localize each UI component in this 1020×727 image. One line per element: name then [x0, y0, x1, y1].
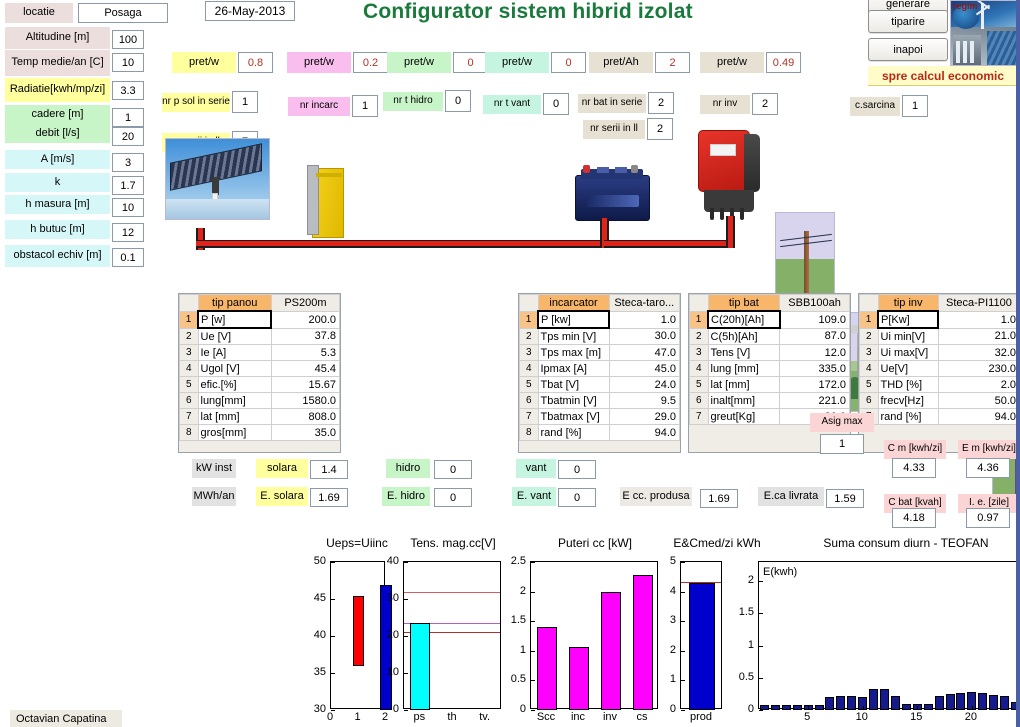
inapoi-button[interactable]: inapoi	[868, 38, 948, 61]
site-param-label-2: Temp medie/an [C]	[5, 50, 110, 76]
table-row: 4Ue[V]230.0	[860, 361, 1020, 377]
coverage-value-2[interactable]: 4.36	[966, 458, 1010, 478]
spre-calcul-economic-button[interactable]: spre calcul economic	[868, 66, 1018, 86]
count-value-4[interactable]: 0	[543, 93, 569, 115]
site-param-label-6: A [m/s]	[5, 150, 110, 169]
table-row: 1C(20h)[Ah]109.0	[690, 311, 850, 328]
source-value-3[interactable]: 0	[434, 488, 472, 507]
param-value-cell[interactable]: 45.4	[271, 361, 339, 377]
table-invertor-header-b: Steca-PI1100	[938, 295, 1019, 312]
site-param-label-5: debit [l/s]	[5, 124, 110, 143]
count-label-2: nr incarc	[288, 97, 350, 116]
row-number: 2	[520, 328, 539, 345]
table-row: 6inalt[mm]221.0	[690, 393, 850, 409]
count-label-8: c.sarcina	[850, 97, 900, 116]
param-name-cell[interactable]: Tbat [V]	[538, 377, 609, 393]
source-label-3: E. hidro	[382, 487, 430, 506]
table-row: 3Tens [V]12.0	[690, 345, 850, 361]
chart-bar	[815, 705, 824, 710]
param-name-cell[interactable]: P [kw]	[538, 311, 609, 328]
param-value-cell[interactable]: 9.5	[609, 393, 679, 409]
coverage-label-2: E m [kwh/zi]	[958, 440, 1020, 459]
site-param-label-9: h butuc [m]	[5, 220, 110, 239]
table-incarcator: incarcatorSteca-taro...1P [kw]1.02Tps mi…	[518, 293, 681, 453]
table-baterie-header-a: tip bat	[708, 295, 780, 312]
source-label-0: solara	[256, 459, 308, 478]
price-value-2[interactable]: 0	[453, 52, 488, 73]
unit-label-0: kW inst	[192, 459, 236, 478]
param-value-cell[interactable]: 5.3	[271, 345, 339, 361]
table-row: 5efic.[%]15.67	[180, 377, 340, 393]
row-number: 5	[180, 377, 199, 393]
row-number: 8	[520, 425, 539, 441]
param-value-cell[interactable]: 21.0	[938, 328, 1019, 345]
chart-bar	[689, 583, 715, 710]
param-name-cell[interactable]: Ue[V]	[878, 361, 938, 377]
row-number: 1	[860, 311, 879, 328]
param-name-cell[interactable]: Ipmax [A]	[538, 361, 609, 377]
chart-ytick: 50	[286, 555, 326, 567]
site-param-value-10[interactable]: 0.1	[112, 248, 144, 267]
site-param-label-4: cadere [m]	[5, 105, 110, 124]
price-label-1: pret/w	[287, 52, 351, 73]
chart-ytick-mark	[759, 581, 763, 582]
table-row: 7lat [mm]808.0	[180, 409, 340, 425]
chart-bar	[793, 705, 802, 710]
chart-ytick-mark	[759, 678, 763, 679]
param-value-cell[interactable]: 1580.0	[271, 393, 339, 409]
table-row: 7Tbatmax [V]29.0	[520, 409, 680, 425]
chart-ytick: 1	[486, 644, 526, 656]
row-number: 5	[860, 377, 879, 393]
site-param-value-5[interactable]: 20	[112, 127, 144, 146]
param-name-cell[interactable]: lung [mm]	[708, 361, 780, 377]
param-value-cell[interactable]: 30.0	[609, 328, 679, 345]
row-number: 3	[180, 345, 199, 361]
chart-ytick: 2	[714, 574, 754, 586]
param-value-cell[interactable]: 87.0	[780, 328, 850, 345]
source-label-5: E. vant	[512, 487, 556, 506]
chart-ytick-mark	[759, 646, 763, 647]
site-param-value-7[interactable]: 1.7	[112, 176, 144, 195]
chart-ytick: 30	[359, 592, 399, 604]
param-name-cell[interactable]: C(5h)[Ah]	[708, 328, 780, 345]
chart-bar	[537, 627, 557, 710]
chart-ytick: 2.5	[486, 555, 526, 567]
chart-xtick-mark	[917, 706, 918, 710]
row-number: 6	[180, 393, 199, 409]
chart-bar	[978, 693, 987, 710]
chart-title-puteri-cc: Puteri cc [kW]	[540, 536, 650, 550]
param-value-cell[interactable]: 24.0	[609, 377, 679, 393]
param-value-cell[interactable]: 109.0	[780, 311, 850, 328]
chart-bar	[869, 689, 878, 710]
chart-xtick-mark	[808, 706, 809, 710]
table-incarcator-header-b: Steca-taro...	[609, 295, 679, 312]
solar-panel-image	[165, 138, 270, 220]
count-value-5[interactable]: 2	[648, 92, 674, 114]
chart-ytick: 2	[486, 585, 526, 597]
table-row: 6Tbatmin [V]9.5	[520, 393, 680, 409]
row-number: 4	[520, 361, 539, 377]
chart-bar	[836, 696, 845, 710]
chart-xtick: 5	[795, 711, 819, 723]
row-number: 3	[690, 345, 709, 361]
chart-ytick-mark	[404, 673, 408, 674]
site-param-label-0: locatie	[5, 3, 73, 23]
chart-ytick: 0	[486, 703, 526, 715]
coverage-label-1: C m [kwh/zi]	[884, 440, 946, 459]
chart-ytick-mark	[531, 592, 535, 593]
param-name-cell[interactable]: rand [%]	[878, 409, 938, 425]
chart-bar	[989, 695, 998, 710]
param-name-cell[interactable]: rand [%]	[538, 425, 609, 441]
param-name-cell[interactable]: Ui max[V]	[878, 345, 938, 361]
param-value-cell[interactable]: 808.0	[271, 409, 339, 425]
table-row: 6frecv[Hz]50.0	[860, 393, 1020, 409]
table-row: 6lung[mm]1580.0	[180, 393, 340, 409]
row-number: 4	[860, 361, 879, 377]
chart-ytick: 0.5	[486, 673, 526, 685]
chart-bar	[891, 696, 900, 710]
chart-bar	[935, 696, 944, 710]
table-row: 4Ugol [V]45.4	[180, 361, 340, 377]
param-name-cell[interactable]: THD [%]	[878, 377, 938, 393]
chart-xtick-mark	[863, 706, 864, 710]
count-value-2[interactable]: 1	[352, 95, 378, 117]
table-row: 1P [kw]1.0	[520, 311, 680, 328]
chart-ytick-mark	[331, 636, 335, 637]
chart-ytick: 0	[359, 703, 399, 715]
chart-ytick-mark	[331, 673, 335, 674]
row-number: 6	[690, 393, 709, 409]
count-label-0: nr p sol in serie	[162, 93, 230, 112]
param-value-cell[interactable]: 1.0	[609, 311, 679, 328]
param-name-cell[interactable]: Ie [A]	[198, 345, 271, 361]
energy-value-1[interactable]: 1.59	[826, 489, 864, 508]
chart-ytick-mark	[681, 651, 685, 652]
chart-ytick: 35	[286, 666, 326, 678]
chart-xtick: 20	[959, 711, 983, 723]
chart-ytick: 1.5	[714, 606, 754, 618]
chart-ytick-mark	[681, 562, 685, 563]
count-label-5: nr bat in serie	[578, 94, 646, 113]
coverage-label-0: Asig max	[810, 413, 874, 432]
chart-ytick-mark	[531, 680, 535, 681]
row-number: 2	[860, 328, 879, 345]
row-number: 7	[180, 409, 199, 425]
chart-ytick-mark	[681, 621, 685, 622]
param-value-cell[interactable]: 221.0	[780, 393, 850, 409]
table-incarcator-header-a: incarcator	[538, 295, 609, 312]
row-number: 1	[520, 311, 539, 328]
row-number: 7	[520, 409, 539, 425]
count-value-7[interactable]: 2	[752, 93, 778, 115]
count-label-7: nr inv	[700, 95, 750, 114]
site-param-label-3: Radiatie[kwh/mp/zi]	[5, 78, 110, 102]
price-label-4: pret/Ah	[589, 52, 653, 73]
param-value-cell[interactable]: 47.0	[609, 345, 679, 361]
chart-ytick: 3	[636, 614, 676, 626]
chart-xtick: 15	[904, 711, 928, 723]
table-row: 5THD [%]2.0	[860, 377, 1020, 393]
param-value-cell[interactable]: 1.0	[938, 311, 1019, 328]
param-name-cell[interactable]: Tps max [m]	[538, 345, 609, 361]
row-number: 6	[860, 393, 879, 409]
param-value-cell[interactable]: 172.0	[780, 377, 850, 393]
count-value-0[interactable]: 1	[232, 91, 258, 113]
table-row: 3Ui max[V]32.0	[860, 345, 1020, 361]
chart-bar	[601, 592, 621, 710]
table-panou: tip panouPS200m1P [w]200.02Ue [V]37.83Ie…	[178, 293, 341, 453]
param-value-cell[interactable]: 94.0	[609, 425, 679, 441]
row-number: 7	[690, 409, 709, 425]
site-param-label-8: h masura [m]	[5, 195, 110, 214]
table-panou-header-a: tip panou	[198, 295, 271, 312]
param-value-cell[interactable]: 35.0	[271, 425, 339, 441]
site-param-value-8[interactable]: 10	[112, 198, 144, 217]
param-name-cell[interactable]: Tbatmin [V]	[538, 393, 609, 409]
header-collage-image: regim	[950, 0, 1020, 66]
table-row: 2C(5h)[Ah]87.0	[690, 328, 850, 345]
chart-ytick-mark	[759, 710, 763, 711]
chart-ytick: 1.5	[486, 614, 526, 626]
date-field[interactable]: 26-May-2013	[205, 1, 295, 21]
table-row: 1P[Kw]1.0	[860, 311, 1020, 328]
row-number: 4	[180, 361, 199, 377]
chart-bar	[410, 623, 430, 710]
chart-bar	[782, 705, 791, 710]
source-label-1: E. solara	[256, 487, 308, 506]
chart-bar	[924, 704, 933, 710]
param-value-cell[interactable]: 37.8	[271, 328, 339, 345]
param-name-cell[interactable]: P[Kw]	[878, 311, 938, 328]
source-value-0[interactable]: 1.4	[310, 460, 348, 479]
chart-title-e-cmed-zi: E&Cmed/zi kWh	[662, 536, 772, 550]
chart-axes-tens-mag-cc	[403, 561, 501, 709]
chart-title-ueps-uiinc: Ueps=Uiinc	[312, 536, 402, 550]
site-param-value-9[interactable]: 12	[112, 223, 144, 242]
energy-label-1: E.ca livrata	[758, 487, 824, 506]
price-value-0[interactable]: 0.8	[238, 52, 273, 73]
chart-ytick-mark	[404, 636, 408, 637]
chart-ytick: 0	[714, 703, 754, 715]
price-value-1[interactable]: 0.2	[353, 52, 388, 73]
param-value-cell[interactable]: 15.67	[271, 377, 339, 393]
table-row: 8rand [%]94.0	[520, 425, 680, 441]
chart-bar	[946, 694, 955, 710]
chart-title-suma-consum-diurn: Suma consum diurn - TEOFAN	[806, 536, 1006, 550]
page-title: Configurator sistem hibrid izolat	[363, 0, 693, 24]
param-name-cell[interactable]: Tens [V]	[708, 345, 780, 361]
param-name-cell[interactable]: Tbatmax [V]	[538, 409, 609, 425]
chart-ytick-mark	[331, 599, 335, 600]
row-number: 5	[520, 377, 539, 393]
source-label-4: vant	[516, 459, 556, 478]
param-name-cell[interactable]: P [w]	[198, 311, 271, 328]
source-value-5[interactable]: 0	[558, 488, 596, 507]
param-value-cell[interactable]: 94.0	[938, 409, 1019, 425]
table-row: 8gros[mm]35.0	[180, 425, 340, 441]
row-number: 5	[690, 377, 709, 393]
param-value-cell[interactable]: 45.0	[609, 361, 679, 377]
param-value-cell[interactable]: 200.0	[271, 311, 339, 328]
site-param-value-1[interactable]: 100	[112, 30, 144, 49]
chart-ytick: 0.5	[714, 671, 754, 683]
price-label-0: pret/w	[172, 52, 236, 73]
chart-ytick: 4	[636, 585, 676, 597]
battery-image	[575, 165, 650, 223]
table-invertor: tip invSteca-PI11001P[Kw]1.02Ui min[V]21…	[858, 293, 1020, 453]
chart-ytick-mark	[331, 562, 335, 563]
chart-ytick: 20	[359, 629, 399, 641]
row-number: 2	[690, 328, 709, 345]
param-value-cell[interactable]: 32.0	[938, 345, 1019, 361]
chart-xtick: 10	[850, 711, 874, 723]
chart-annotation: E(kwh)	[763, 566, 797, 578]
count-label-4: nr t vant	[483, 95, 541, 114]
source-value-1[interactable]: 1.69	[310, 488, 348, 507]
param-value-cell[interactable]: 335.0	[780, 361, 850, 377]
row-number: 2	[180, 328, 199, 345]
table-panou-header-b: PS200m	[271, 295, 339, 312]
param-name-cell[interactable]: Ui min[V]	[878, 328, 938, 345]
system-schematic	[160, 130, 1020, 250]
chart-ytick-mark	[404, 562, 408, 563]
chart-ytick-mark	[404, 599, 408, 600]
energy-value-0[interactable]: 1.69	[700, 489, 738, 508]
param-name-cell[interactable]: lat [mm]	[198, 409, 271, 425]
chart-ytick: 5	[636, 555, 676, 567]
count-value-8[interactable]: 1	[902, 95, 928, 117]
table-row: 3Tps max [m]47.0	[520, 345, 680, 361]
param-name-cell[interactable]: Ugol [V]	[198, 361, 271, 377]
param-value-cell[interactable]: 2.0	[938, 377, 1019, 393]
site-param-value-2[interactable]: 10	[112, 53, 144, 72]
table-row: 1P [w]200.0	[180, 311, 340, 328]
site-param-value-4[interactable]: 1	[112, 108, 144, 127]
chart-bar	[880, 689, 889, 710]
coverage-value-4[interactable]: 0.97	[966, 508, 1010, 528]
chart-bar	[902, 704, 911, 710]
vertical-scrollbar[interactable]	[1016, 0, 1020, 727]
chart-bar	[956, 693, 965, 710]
chart-ytick: 1	[714, 639, 754, 651]
tiparire-button[interactable]: tiparire	[868, 10, 948, 33]
chart-ytick: 40	[359, 555, 399, 567]
energy-label-0: E cc. produsa	[620, 487, 692, 506]
site-param-label-1: Altitudine [m]	[5, 27, 110, 49]
charge-controller-image	[312, 168, 344, 238]
table-row: 3Ie [A]5.3	[180, 345, 340, 361]
chart-ytick: 10	[359, 666, 399, 678]
param-name-cell[interactable]: greut[Kg]	[708, 409, 780, 425]
param-value-cell[interactable]: 50.0	[938, 393, 1019, 409]
site-param-label-7: k	[5, 173, 110, 192]
site-param-value-3[interactable]: 3.3	[112, 81, 144, 100]
price-label-2: pret/w	[387, 52, 451, 73]
row-number: 6	[520, 393, 539, 409]
price-value-5[interactable]: 0.49	[766, 52, 801, 73]
price-value-4[interactable]: 2	[655, 52, 690, 73]
chart-bar	[771, 705, 780, 710]
unit-label-1: MWh/an	[192, 487, 236, 506]
table-row: 2Tps min [V]30.0	[520, 328, 680, 345]
source-value-2[interactable]: 0	[434, 460, 472, 479]
table-row: 4lung [mm]335.0	[690, 361, 850, 377]
param-value-cell[interactable]: 29.0	[609, 409, 679, 425]
coverage-value-0[interactable]: 1	[820, 434, 864, 454]
chart-bar	[1000, 696, 1009, 710]
price-label-3: pret/w	[485, 52, 549, 73]
param-name-cell[interactable]: C(20h)[Ah]	[708, 311, 780, 328]
chart-ytick: 0	[636, 703, 676, 715]
param-value-cell[interactable]: 230.0	[938, 361, 1019, 377]
row-number: 8	[180, 425, 199, 441]
param-name-cell[interactable]: inalt[mm]	[708, 393, 780, 409]
coverage-value-1[interactable]: 4.33	[892, 458, 936, 478]
table-row: 7rand [%]94.0	[860, 409, 1020, 425]
param-value-cell[interactable]: 12.0	[780, 345, 850, 361]
table-row: 4Ipmax [A]45.0	[520, 361, 680, 377]
param-name-cell[interactable]: Tps min [V]	[538, 328, 609, 345]
chart-axes-suma-consum-diurn: E(kwh)	[758, 561, 1020, 709]
chart-bar	[847, 696, 856, 710]
param-name-cell[interactable]: efic.[%]	[198, 377, 271, 393]
chart-ytick-mark	[531, 651, 535, 652]
author-footer: Octavian Capatina	[10, 710, 122, 727]
count-label-3: nr t hidro	[383, 92, 443, 111]
row-number: 3	[860, 345, 879, 361]
chart-ytick-mark	[531, 562, 535, 563]
row-number: 4	[690, 361, 709, 377]
table-row: 2Ue [V]37.8	[180, 328, 340, 345]
chart-title-tens-mag-cc: Tens. mag.cc[V]	[398, 536, 508, 550]
price-label-5: pret/w	[700, 52, 764, 73]
table-baterie-header-b: SBB100ah	[780, 295, 850, 312]
chart-bar	[825, 697, 834, 710]
chart-bar	[569, 647, 589, 710]
source-value-4[interactable]: 0	[558, 460, 596, 479]
site-param-value-0[interactable]: Posaga	[78, 3, 168, 23]
row-number: 1	[180, 311, 199, 328]
chart-ytick: 45	[286, 592, 326, 604]
chart-ytick-mark	[531, 621, 535, 622]
table-row: 5lat [mm]172.0	[690, 377, 850, 393]
param-name-cell[interactable]: lat [mm]	[708, 377, 780, 393]
table-row: 2Ui min[V]21.0	[860, 328, 1020, 345]
chart-ytick: 40	[286, 629, 326, 641]
row-number: 1	[690, 311, 709, 328]
source-label-2: hidro	[386, 459, 430, 478]
count-value-3[interactable]: 0	[445, 90, 471, 112]
param-name-cell[interactable]: Ue [V]	[198, 328, 271, 345]
param-name-cell[interactable]: gros[mm]	[198, 425, 271, 441]
chart-ytick-mark	[681, 680, 685, 681]
chart-xtick-mark	[972, 706, 973, 710]
site-param-value-6[interactable]: 3	[112, 153, 144, 172]
param-name-cell[interactable]: lung[mm]	[198, 393, 271, 409]
coverage-value-3[interactable]: 4.18	[892, 508, 936, 528]
chart-bar	[760, 705, 769, 710]
chart-ytick-mark	[681, 592, 685, 593]
chart-axes-puteri-cc	[530, 561, 658, 709]
table-invertor-header-a: tip inv	[878, 295, 938, 312]
price-value-3[interactable]: 0	[551, 52, 586, 73]
param-name-cell[interactable]: frecv[Hz]	[878, 393, 938, 409]
row-number: 3	[520, 345, 539, 361]
site-param-label-10: obstacol echiv [m]	[5, 245, 110, 267]
